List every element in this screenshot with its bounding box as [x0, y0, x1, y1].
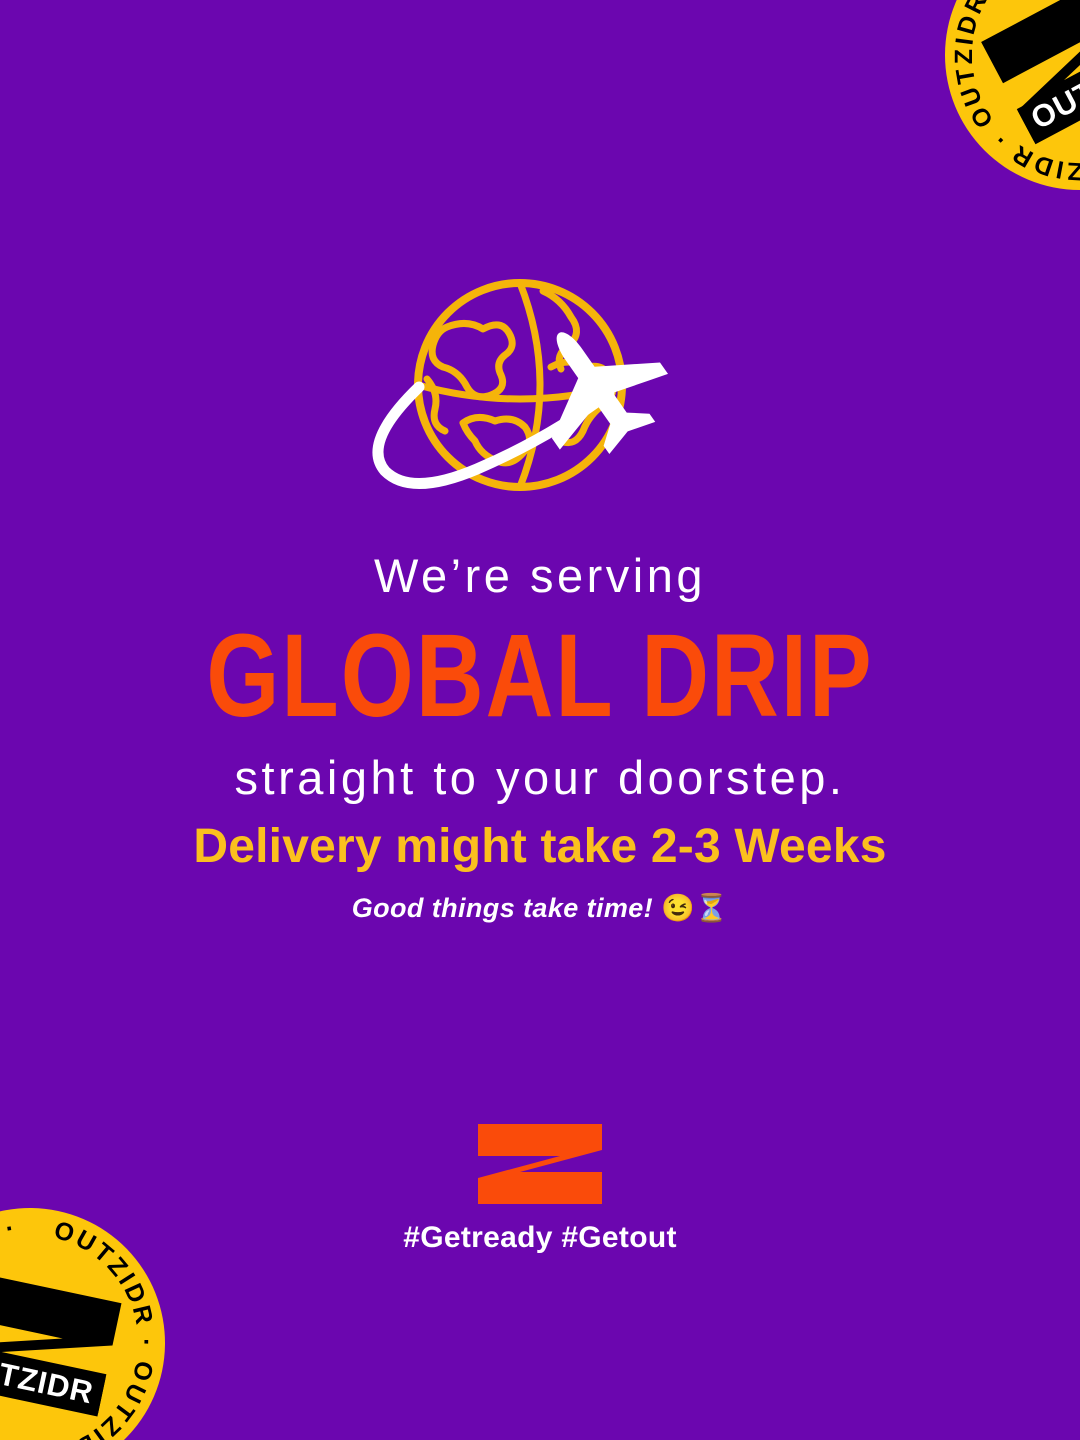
headline-block: We’re serving GLOBAL DRIP straight to yo…: [0, 548, 1080, 806]
headline-line-2-global-drip: GLOBAL DRIP: [0, 611, 1080, 743]
delivery-subtext-label: Good things take time!: [352, 893, 653, 923]
delivery-subtext: Good things take time! 😉⏳: [0, 892, 1080, 924]
delivery-notice-block: Delivery might take 2-3 Weeks Good thing…: [0, 818, 1080, 924]
outzidr-z-logo: [476, 1122, 604, 1206]
delivery-headline: Delivery might take 2-3 Weeks: [0, 818, 1080, 876]
brand-badge-top-right: OUTZIDR · OUTZIDR · OUTZIDR · OUTZIDR · …: [897, 0, 1080, 238]
globe-airplane-illustration: [355, 275, 725, 510]
promo-poster: OUTZIDR · OUTZIDR · OUTZIDR · OUTZIDR · …: [0, 0, 1080, 1440]
headline-line-3: straight to your doorstep.: [0, 750, 1080, 805]
headline-line-1: We’re serving: [0, 548, 1080, 603]
wink-hourglass-emoji: 😉⏳: [661, 893, 728, 923]
